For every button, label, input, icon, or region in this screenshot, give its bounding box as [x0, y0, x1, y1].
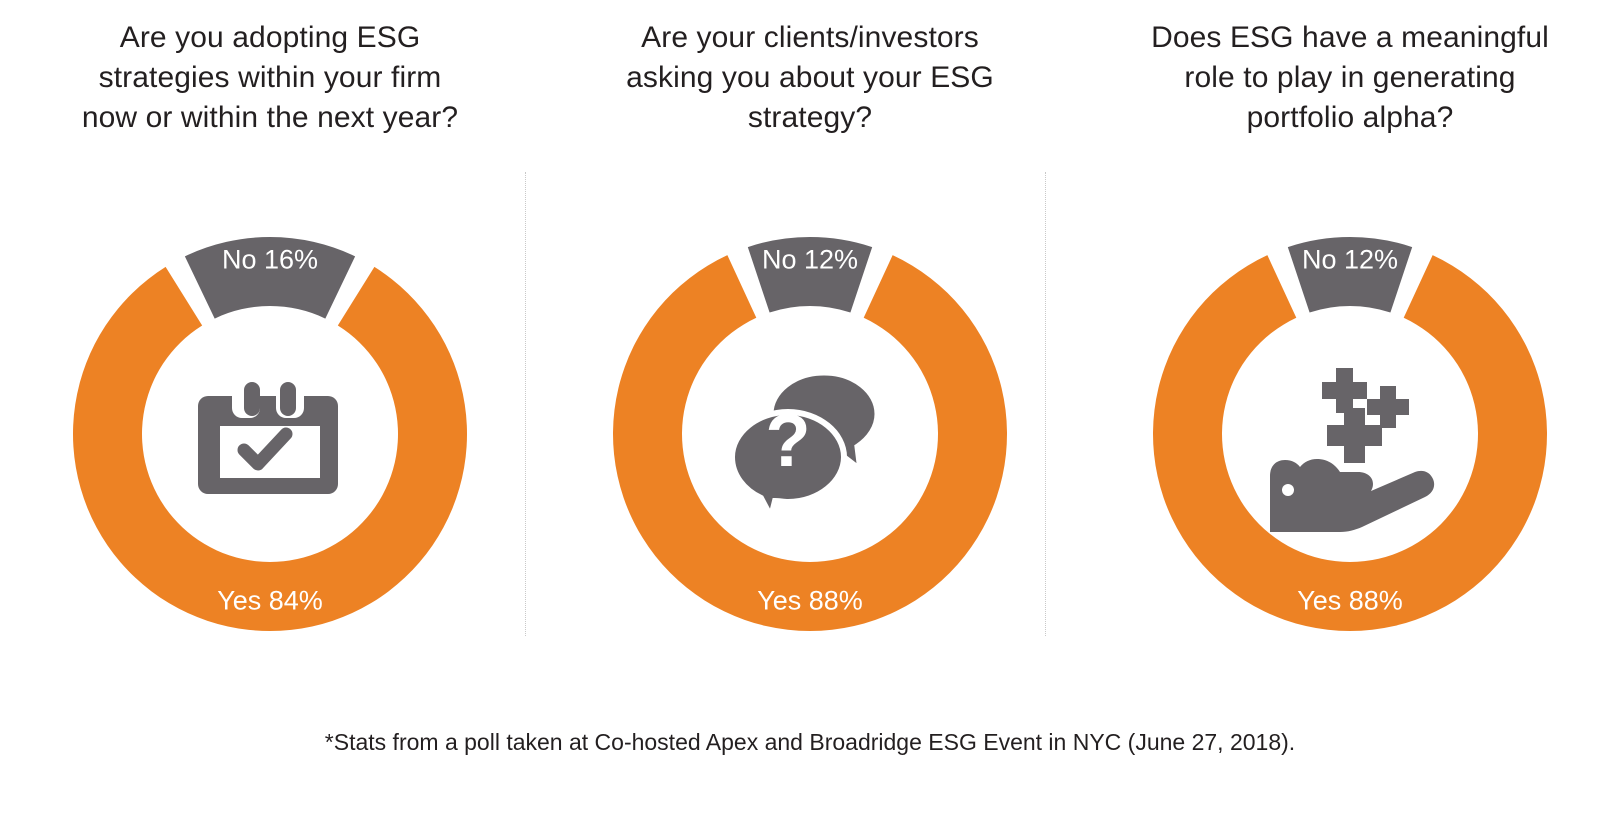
panel-title: Are you adopting ESG strategies within y… — [70, 18, 470, 138]
speech-bubbles-question-icon: ? — [732, 372, 878, 517]
donut-slices — [613, 237, 1007, 631]
slice-yes[interactable] — [73, 267, 467, 631]
slice-yes[interactable] — [613, 255, 1007, 631]
panel-divider — [525, 172, 526, 636]
donut-svg: No 12% Yes 88% ? — [608, 232, 1012, 636]
slice-label-yes: Yes 88% — [757, 586, 863, 616]
donut-chart-adoption: No 16% Yes 84% — [68, 232, 472, 636]
panel-title: Are your clients/investors asking you ab… — [610, 18, 1010, 138]
panel-row: Are you adopting ESG strategies within y… — [0, 0, 1620, 680]
footnote: *Stats from a poll taken at Co-hosted Ap… — [0, 726, 1620, 758]
panel-client-demand: Are your clients/investors asking you ab… — [540, 0, 1080, 680]
panel-alpha: Does ESG have a meaningful role to play … — [1080, 0, 1620, 680]
donut-chart-client-demand: No 12% Yes 88% ? — [608, 232, 1012, 636]
donut-svg: No 16% Yes 84% — [68, 232, 472, 636]
donut-slices — [73, 237, 467, 631]
hand-with-plus-signs-icon — [1270, 368, 1434, 532]
slice-label-no: No 12% — [762, 245, 858, 275]
slice-yes[interactable] — [1153, 255, 1547, 631]
svg-text:?: ? — [765, 399, 810, 482]
donut-svg: No 12% Yes 88% — [1148, 232, 1552, 636]
panel-divider — [1045, 172, 1046, 636]
donut-slices — [1153, 237, 1547, 631]
panel-adoption: Are you adopting ESG strategies within y… — [0, 0, 540, 680]
slice-label-no: No 12% — [1302, 245, 1398, 275]
calendar-check-icon — [198, 382, 338, 494]
panel-title: Does ESG have a meaningful role to play … — [1150, 18, 1550, 138]
donut-chart-alpha: No 12% Yes 88% — [1148, 232, 1552, 636]
slice-label-no: No 16% — [222, 245, 318, 275]
slice-label-yes: Yes 84% — [217, 586, 323, 616]
esg-poll-infographic: Are you adopting ESG strategies within y… — [0, 0, 1620, 816]
slice-label-yes: Yes 88% — [1297, 586, 1403, 616]
